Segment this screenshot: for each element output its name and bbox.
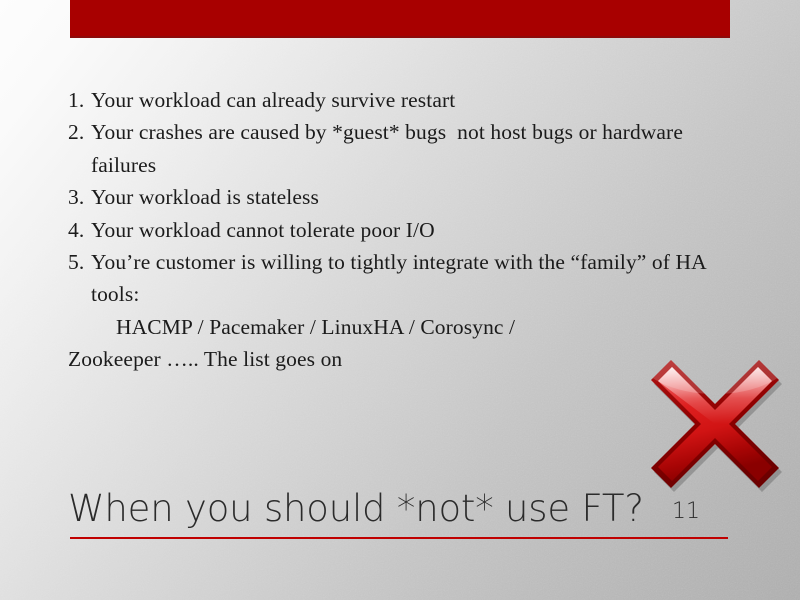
- list-item: 5. You’re customer is willing to tightly…: [68, 246, 736, 311]
- list-item-text: Your crashes are caused by *guest* bugs …: [91, 116, 736, 181]
- list-item-number: 2.: [68, 116, 91, 148]
- title-underline-rule: [70, 537, 728, 539]
- list-item-number: 3.: [68, 181, 91, 213]
- page-title: When you should *not* use FT?: [68, 486, 732, 532]
- slide-canvas: 1. Your workload can already survive res…: [0, 0, 800, 600]
- list-item-text: You’re customer is willing to tightly in…: [91, 246, 736, 311]
- slide-number: 11: [672, 499, 700, 525]
- body-numbered-list: 1. Your workload can already survive res…: [68, 84, 736, 376]
- list-item-text: Your workload can already survive restar…: [91, 84, 736, 116]
- list-item-number: 5.: [68, 246, 91, 278]
- list-item: 1. Your workload can already survive res…: [68, 84, 736, 116]
- zookeeper-line: Zookeeper ….. The list goes on: [68, 343, 736, 375]
- ha-tools-line: HACMP / Pacemaker / LinuxHA / Corosync /: [68, 311, 736, 343]
- list-item-number: 1.: [68, 84, 91, 116]
- list-item: 2. Your crashes are caused by *guest* bu…: [68, 116, 736, 181]
- list-item: 4. Your workload cannot tolerate poor I/…: [68, 214, 736, 246]
- title-block: When you should *not* use FT?: [68, 486, 732, 532]
- header-accent-bar: [70, 0, 730, 38]
- list-item-text: Your workload is stateless: [91, 181, 736, 213]
- list-item-number: 4.: [68, 214, 91, 246]
- red-x-icon: [641, 350, 789, 498]
- list-item-text: Your workload cannot tolerate poor I/O: [91, 214, 736, 246]
- list-item: 3. Your workload is stateless: [68, 181, 736, 213]
